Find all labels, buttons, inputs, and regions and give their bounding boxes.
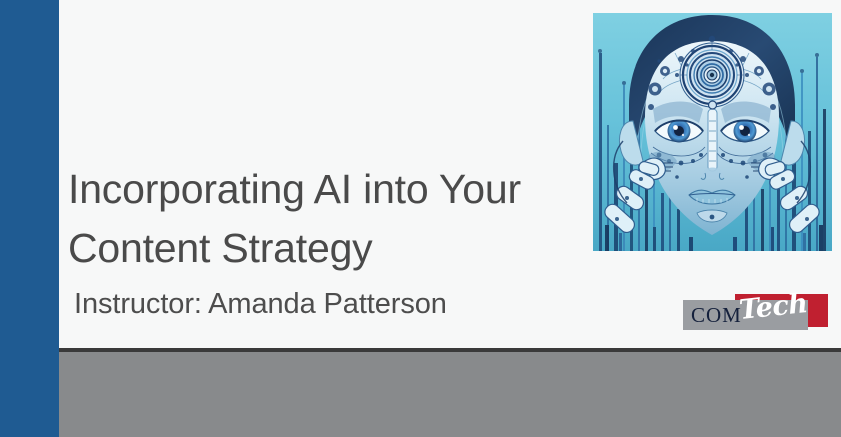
logo-com-text: COM [691, 303, 742, 327]
presentation-slide: Incorporating AI into Your Content Strat… [0, 0, 841, 437]
comtech-logo: COM Tech [683, 292, 831, 332]
page-title: Incorporating AI into Your Content Strat… [68, 160, 588, 278]
instructor-subtitle: Instructor: Amanda Patterson [74, 286, 447, 322]
footer-gray-band [59, 352, 841, 437]
ai-robot-face-illustration [593, 13, 832, 251]
sidebar-accent-bar [0, 0, 59, 437]
